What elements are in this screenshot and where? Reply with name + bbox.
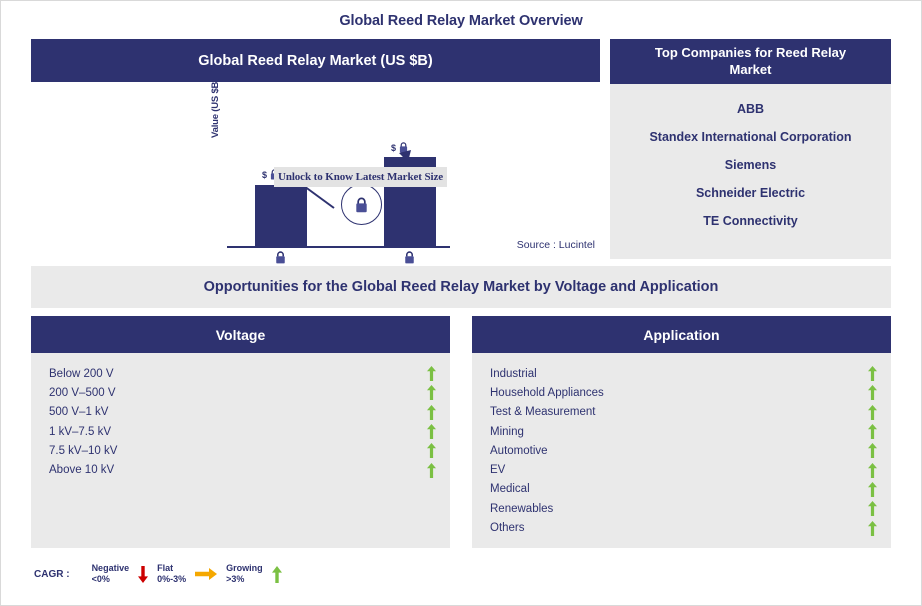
segment-label: Above 10 kV: [49, 464, 114, 476]
segment-label: Household Appliances: [490, 387, 604, 399]
arrow-up-icon: [272, 566, 282, 583]
list-item: ABB: [610, 95, 891, 123]
list-item: Medical: [472, 480, 891, 499]
segment-label: Mining: [490, 426, 524, 438]
list-item: 200 V–500 V: [31, 383, 450, 402]
list-item: Standex International Corporation: [610, 123, 891, 151]
list-item: Renewables: [472, 499, 891, 518]
cagr-growing-range: >3%: [226, 574, 263, 585]
arrow-up-icon: [868, 405, 877, 420]
segment-label: Below 200 V: [49, 368, 114, 380]
cagr-growing-label: Growing: [226, 563, 263, 574]
list-item: Automotive: [472, 441, 891, 460]
top-companies-header: Top Companies for Reed Relay Market: [610, 39, 891, 84]
segment-label: Medical: [490, 483, 530, 495]
voltage-header: Voltage: [31, 316, 450, 353]
list-item: 1 kV–7.5 kV: [31, 422, 450, 441]
arrow-up-icon: [427, 366, 436, 381]
application-card: Application Industrial Household Applian…: [472, 316, 891, 548]
voltage-card: Voltage Below 200 V 200 V–500 V 500 V–1 …: [31, 316, 450, 548]
source-note: Source : Lucintel: [517, 239, 595, 251]
opportunities-banner: Opportunities for the Global Reed Relay …: [31, 266, 891, 308]
list-item: Below 200 V: [31, 364, 450, 383]
segment-label: Others: [490, 522, 525, 534]
application-header: Application: [472, 316, 891, 353]
segment-label: 1 kV–7.5 kV: [49, 426, 111, 438]
lock-icon: [275, 251, 286, 264]
cagr-legend-entry-negative: Negative <0%: [92, 563, 158, 586]
cagr-legend-entry-flat: Flat 0%-3%: [157, 563, 226, 586]
segment-label: Renewables: [490, 503, 553, 515]
page-title: Global Reed Relay Market Overview: [0, 13, 922, 29]
arrow-down-icon: [138, 566, 148, 583]
list-item: Test & Measurement: [472, 403, 891, 422]
cagr-flat-text: Flat 0%-3%: [157, 563, 186, 586]
cagr-flat-label: Flat: [157, 563, 186, 574]
market-chart-card: Global Reed Relay Market (US $B) Value (…: [31, 39, 600, 259]
list-item: Industrial: [472, 364, 891, 383]
arrow-up-icon: [868, 463, 877, 478]
unlock-banner[interactable]: Unlock to Know Latest Market Size: [274, 167, 447, 187]
cagr-growing-text: Growing >3%: [226, 563, 263, 586]
arrow-up-icon: [868, 501, 877, 516]
lock-icon: [355, 197, 368, 213]
segment-label: EV: [490, 464, 505, 476]
list-item: Household Appliances: [472, 383, 891, 402]
list-item: Mining: [472, 422, 891, 441]
arrow-up-icon: [868, 482, 877, 497]
segment-label: Test & Measurement: [490, 406, 595, 418]
cagr-negative-range: <0%: [92, 574, 130, 585]
cagr-legend: CAGR : Negative <0% Flat 0%-3% Growing >…: [34, 563, 291, 586]
market-chart-body: Value (US $B) $ $: [31, 82, 600, 259]
voltage-list: Below 200 V 200 V–500 V 500 V–1 kV 1 kV–…: [31, 353, 450, 548]
arrow-up-icon: [868, 424, 877, 439]
segment-label: 200 V–500 V: [49, 387, 116, 399]
cagr-legend-title: CAGR :: [34, 569, 70, 580]
arrow-up-icon: [427, 443, 436, 458]
application-list: Industrial Household Appliances Test & M…: [472, 353, 891, 548]
segment-label: Automotive: [490, 445, 548, 457]
list-item: Above 10 kV: [31, 460, 450, 479]
arrow-up-icon: [427, 463, 436, 478]
cagr-legend-entry-growing: Growing >3%: [226, 563, 291, 586]
list-item: 500 V–1 kV: [31, 403, 450, 422]
segment-label: 500 V–1 kV: [49, 406, 108, 418]
list-item: Schneider Electric: [610, 179, 891, 207]
cagr-flat-range: 0%-3%: [157, 574, 186, 585]
top-companies-card: Top Companies for Reed Relay Market ABB …: [610, 39, 891, 259]
growth-circle: [341, 184, 382, 225]
arrow-up-icon: [868, 443, 877, 458]
arrow-up-icon: [427, 385, 436, 400]
arrow-up-icon: [868, 366, 877, 381]
arrow-up-icon: [427, 424, 436, 439]
lock-icon: [404, 251, 415, 264]
arrow-up-icon: [427, 405, 436, 420]
list-item: Siemens: [610, 151, 891, 179]
market-chart-header: Global Reed Relay Market (US $B): [31, 39, 600, 82]
arrow-up-icon: [868, 385, 877, 400]
list-item: EV: [472, 460, 891, 479]
arrow-right-icon: [195, 568, 217, 580]
segment-label: Industrial: [490, 368, 537, 380]
cagr-negative-label: Negative: [92, 563, 130, 574]
list-item: Others: [472, 518, 891, 537]
top-companies-list: ABB Standex International Corporation Si…: [610, 84, 891, 259]
list-item: 7.5 kV–10 kV: [31, 441, 450, 460]
arrow-up-icon: [868, 521, 877, 536]
segment-label: 7.5 kV–10 kV: [49, 445, 117, 457]
list-item: TE Connectivity: [610, 207, 891, 235]
cagr-negative-text: Negative <0%: [92, 563, 130, 586]
